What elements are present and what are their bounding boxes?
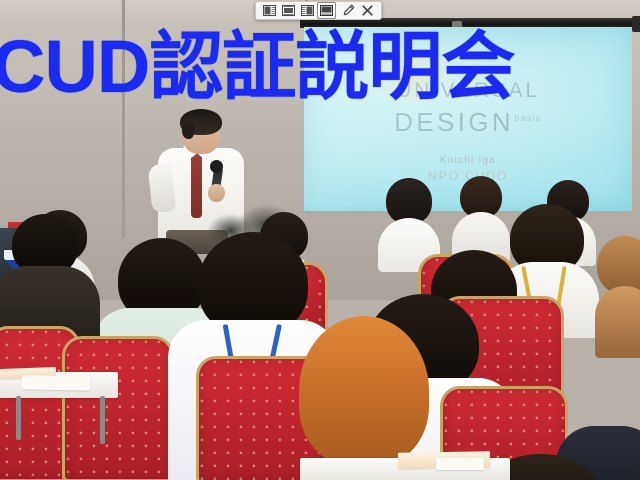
chair [62,336,174,480]
audience [0,176,640,480]
edit-button[interactable] [339,2,358,19]
microphone-head [210,160,223,173]
person-shoulders [595,286,640,358]
align-right-button[interactable] [298,2,317,19]
align-none-button[interactable] [317,2,336,19]
align-center-icon [282,5,295,16]
slide-author: Koichi Iga [304,155,632,166]
table-leg [16,396,21,440]
close-icon [362,5,373,16]
handout-paper [22,375,90,390]
align-right-icon [301,5,314,16]
audience-person [595,236,640,356]
handout-paper [436,458,484,470]
person-head [299,316,429,466]
pencil-icon [342,4,355,17]
image-alignment-toolbar[interactable] [255,1,382,20]
slide-line-design: DESIGN [394,107,514,137]
presenter-hair [180,109,222,135]
remove-button[interactable] [358,2,377,19]
align-left-icon [263,5,276,16]
person-head [597,236,640,294]
align-left-button[interactable] [260,2,279,19]
image-editor-canvas[interactable]: UNIVERSAL DESIGNbasic Koichi Iga NPO CUD… [0,0,640,480]
table-leg [100,396,105,444]
slide-basic-superscript: basic [514,113,542,123]
align-center-button[interactable] [279,2,298,19]
slide-line-design-row: DESIGNbasic [304,107,632,138]
screen-side-cap [632,16,640,32]
align-none-icon [320,5,333,16]
overlay-title-text: CUD認証説明会 [0,30,514,104]
